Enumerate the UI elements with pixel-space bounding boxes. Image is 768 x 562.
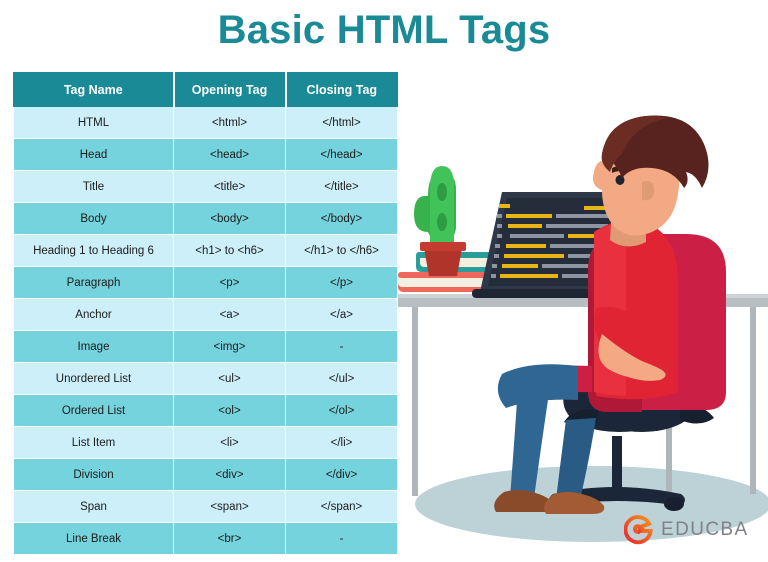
desk-leg-far-right xyxy=(750,306,756,494)
cell-closing-tag: - xyxy=(286,523,398,555)
table-row: List Item<li></li> xyxy=(14,427,398,459)
table-row: Anchor<a></a> xyxy=(14,299,398,331)
cell-tag-name: Image xyxy=(14,331,174,363)
cell-opening-tag: <ul> xyxy=(174,363,286,395)
cell-closing-tag: </title> xyxy=(286,171,398,203)
table-row: Head<head></head> xyxy=(14,139,398,171)
cell-tag-name: Title xyxy=(14,171,174,203)
cell-tag-name: List Item xyxy=(14,427,174,459)
table-row: Division<div></div> xyxy=(14,459,398,491)
educba-logo-text: EDUCBA xyxy=(661,519,749,541)
cell-tag-name: HTML xyxy=(14,107,174,139)
cell-tag-name: Line Break xyxy=(14,523,174,555)
cell-closing-tag: </ol> xyxy=(286,395,398,427)
column-header-closing-tag: Closing Tag xyxy=(286,73,398,107)
cell-opening-tag: <html> xyxy=(174,107,286,139)
educba-mark-icon xyxy=(624,514,655,545)
cell-opening-tag: <ol> xyxy=(174,395,286,427)
cell-closing-tag: </html> xyxy=(286,107,398,139)
table-row: Span<span></span> xyxy=(14,491,398,523)
basic-html-tags-table: Tag Name Opening Tag Closing Tag HTML<ht… xyxy=(13,72,398,555)
cell-tag-name: Division xyxy=(14,459,174,491)
cell-closing-tag: - xyxy=(286,331,398,363)
cell-tag-name: Body xyxy=(14,203,174,235)
cell-closing-tag: </head> xyxy=(286,139,398,171)
table-body: HTML<html></html>Head<head></head>Title<… xyxy=(14,107,398,555)
person xyxy=(494,116,708,514)
cell-opening-tag: <h1> to <h6> xyxy=(174,235,286,267)
cell-opening-tag: <img> xyxy=(174,331,286,363)
desk-leg-left xyxy=(412,306,418,496)
cell-opening-tag: <title> xyxy=(174,171,286,203)
cell-tag-name: Span xyxy=(14,491,174,523)
developer-at-desk-illustration xyxy=(398,96,768,562)
table-header-row: Tag Name Opening Tag Closing Tag xyxy=(14,73,398,107)
table-row: Paragraph<p></p> xyxy=(14,267,398,299)
table-row: Heading 1 to Heading 6<h1> to <h6></h1> … xyxy=(14,235,398,267)
table-row: Ordered List<ol></ol> xyxy=(14,395,398,427)
table-row: Line Break<br>- xyxy=(14,523,398,555)
table-row: Body<body></body> xyxy=(14,203,398,235)
table-row: Image<img>- xyxy=(14,331,398,363)
cell-closing-tag: </body> xyxy=(286,203,398,235)
table-row: Unordered List<ul></ul> xyxy=(14,363,398,395)
cell-closing-tag: </h1> to </h6> xyxy=(286,235,398,267)
cell-opening-tag: <li> xyxy=(174,427,286,459)
cell-closing-tag: </li> xyxy=(286,427,398,459)
table-row: Title<title></title> xyxy=(14,171,398,203)
cell-tag-name: Paragraph xyxy=(14,267,174,299)
cell-opening-tag: <span> xyxy=(174,491,286,523)
column-header-tag-name: Tag Name xyxy=(14,73,174,107)
cell-closing-tag: </p> xyxy=(286,267,398,299)
cell-closing-tag: </span> xyxy=(286,491,398,523)
cell-opening-tag: <div> xyxy=(174,459,286,491)
column-header-opening-tag: Opening Tag xyxy=(174,73,286,107)
cell-opening-tag: <head> xyxy=(174,139,286,171)
page-root: Basic HTML Tags Tag Name Opening Tag Clo… xyxy=(0,0,768,562)
cell-closing-tag: </div> xyxy=(286,459,398,491)
cell-tag-name: Head xyxy=(14,139,174,171)
cell-opening-tag: <a> xyxy=(174,299,286,331)
cell-opening-tag: <br> xyxy=(174,523,286,555)
educba-logo[interactable]: EDUCBA xyxy=(624,514,749,545)
cell-tag-name: Unordered List xyxy=(14,363,174,395)
cell-tag-name: Ordered List xyxy=(14,395,174,427)
cell-tag-name: Anchor xyxy=(14,299,174,331)
cell-opening-tag: <body> xyxy=(174,203,286,235)
cell-closing-tag: </ul> xyxy=(286,363,398,395)
page-title: Basic HTML Tags xyxy=(0,8,768,53)
cell-tag-name: Heading 1 to Heading 6 xyxy=(14,235,174,267)
cell-opening-tag: <p> xyxy=(174,267,286,299)
table-row: HTML<html></html> xyxy=(14,107,398,139)
cell-closing-tag: </a> xyxy=(286,299,398,331)
